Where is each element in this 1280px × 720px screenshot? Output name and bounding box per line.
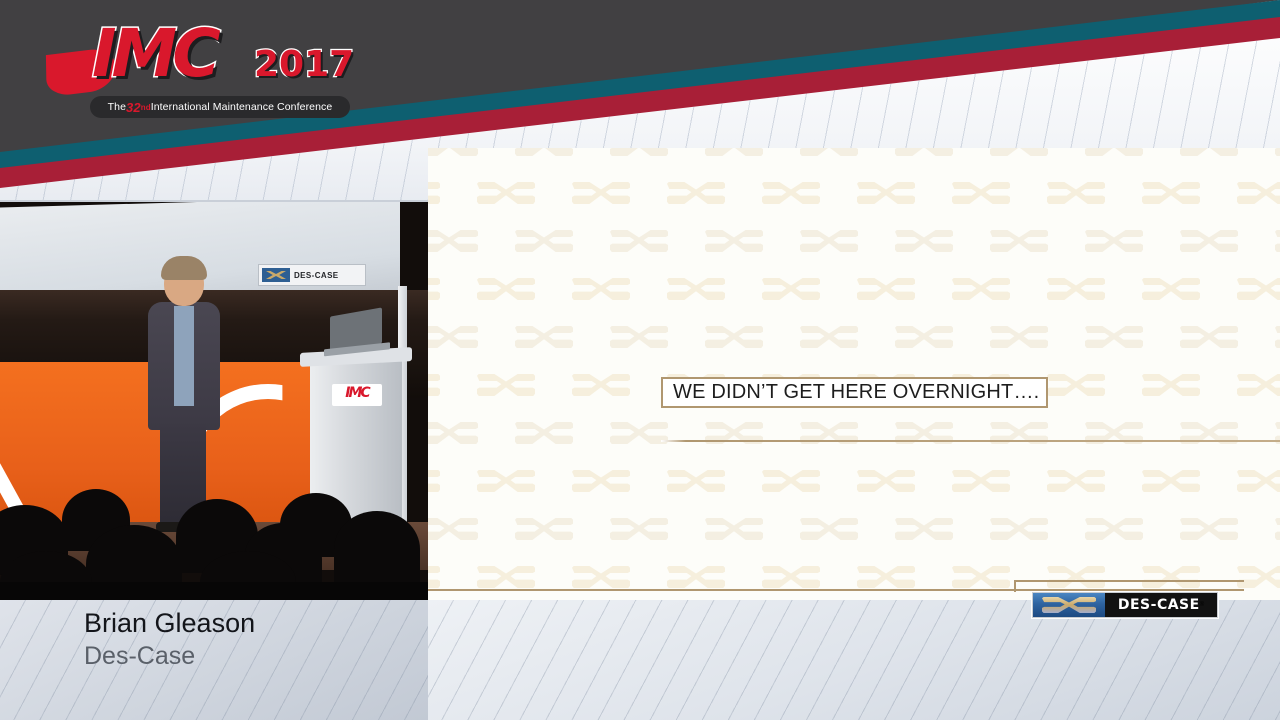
slide-title-underline: [661, 440, 1280, 442]
imc-tagline-suffix: International Maintenance Conference: [151, 101, 333, 113]
speaker-caption: Brian Gleason Des-Case: [0, 600, 428, 720]
imc-tagline-ordinal: nd: [141, 103, 151, 112]
speaker-hair: [161, 256, 207, 280]
des-case-logo-black-panel: DES-CASE®: [1105, 593, 1217, 617]
speaker-shirt: [174, 306, 194, 406]
speaker-name: Brian Gleason: [84, 608, 255, 639]
imc-year: 2017: [254, 44, 354, 85]
projected-des-case-wordmark: DES-CASE: [294, 271, 339, 280]
bottom-stripe-band: [428, 600, 1280, 720]
podium-laptop: [330, 307, 382, 352]
registered-mark: ®: [1200, 602, 1204, 608]
projected-des-case-logo: DES-CASE: [258, 264, 366, 286]
slide-content: WE DIDN’T GET HERE OVERNIGHT…. Des-Case …: [428, 148, 1280, 600]
imc-tagline-number: 32: [126, 100, 141, 115]
imc-tagline-prefix: The: [108, 101, 126, 113]
speaker-organization: Des-Case: [84, 642, 195, 671]
des-case-logo-blue-panel: [1033, 593, 1105, 617]
imc-conference-logo: IMC 2017 The 32nd International Maintena…: [46, 18, 356, 118]
speaker-video-panel[interactable]: Des-Case Confidential DES-CASE IMC: [0, 202, 428, 602]
imc-tagline: The 32nd International Maintenance Confe…: [90, 96, 350, 118]
slide-panel[interactable]: WE DIDN’T GET HERE OVERNIGHT…. Des-Case …: [428, 148, 1280, 600]
des-case-wordmark: DES-CASE: [1118, 597, 1200, 613]
podium-imc-logo: IMC: [332, 384, 382, 406]
presentation-viewer: IMC 2017 The 32nd International Maintena…: [0, 0, 1280, 720]
des-case-logo: DES-CASE®: [1032, 592, 1218, 618]
imc-wordmark: IMC: [92, 16, 216, 92]
video-lower-shadow: [0, 582, 428, 602]
slide-footer-bracket: [1014, 580, 1244, 592]
slide-title: WE DIDN’T GET HERE OVERNIGHT….: [673, 381, 1039, 404]
audience-head: [334, 511, 420, 587]
projected-dc-mark-icon: [262, 268, 290, 282]
des-case-dc-mark-icon: [1042, 597, 1096, 613]
slide-title-box: WE DIDN’T GET HERE OVERNIGHT….: [661, 377, 1048, 408]
